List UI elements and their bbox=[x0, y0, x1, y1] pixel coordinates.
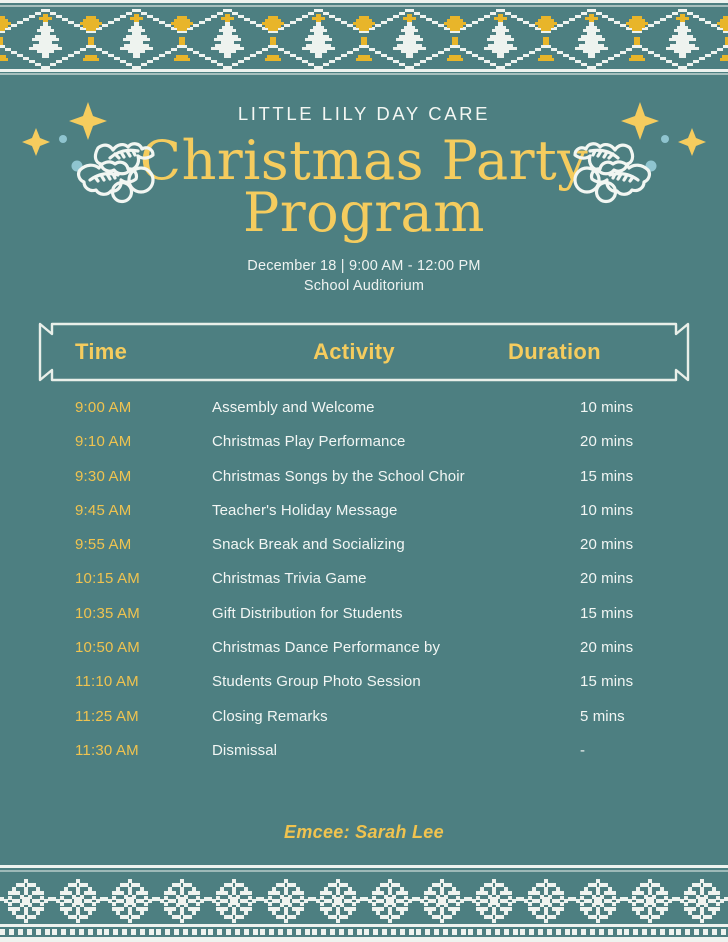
row-activity: Christmas Dance Performance by bbox=[212, 639, 580, 656]
sparkle-icon bbox=[22, 102, 107, 156]
table-row: 10:15 AM Christmas Trivia Game 20 mins bbox=[0, 570, 728, 604]
table-row: 11:10 AM Students Group Photo Session 15… bbox=[0, 673, 728, 707]
row-time: 9:45 AM bbox=[75, 502, 212, 519]
dot-icon bbox=[59, 135, 83, 172]
right-ornament bbox=[544, 96, 714, 216]
table-row: 11:25 AM Closing Remarks 5 mins bbox=[0, 708, 728, 742]
row-duration: 20 mins bbox=[580, 433, 728, 450]
row-activity: Closing Remarks bbox=[212, 708, 580, 725]
row-time: 10:15 AM bbox=[75, 570, 212, 587]
row-activity: Snack Break and Socializing bbox=[212, 536, 580, 553]
emcee-note: Emcee: Sarah Lee bbox=[0, 822, 728, 843]
schedule-table: Time Activity Duration 9:00 AM Assembly … bbox=[0, 322, 728, 776]
table-row: 9:45 AM Teacher's Holiday Message 10 min… bbox=[0, 502, 728, 536]
event-details: December 18 | 9:00 AM - 12:00 PM School … bbox=[0, 256, 728, 296]
column-header-duration: Duration bbox=[500, 339, 690, 365]
table-row: 9:10 AM Christmas Play Performance 20 mi… bbox=[0, 433, 728, 467]
table-row: 10:50 AM Christmas Dance Performance by … bbox=[0, 639, 728, 673]
row-activity: Christmas Songs by the School Choir bbox=[212, 468, 580, 485]
event-venue: School Auditorium bbox=[0, 276, 728, 296]
row-duration: 5 mins bbox=[580, 708, 728, 725]
row-time: 11:30 AM bbox=[75, 742, 212, 759]
table-header-banner: Time Activity Duration bbox=[38, 322, 690, 382]
column-header-activity: Activity bbox=[208, 339, 500, 365]
row-activity: Gift Distribution for Students bbox=[212, 605, 580, 622]
row-time: 9:55 AM bbox=[75, 536, 212, 553]
row-duration: - bbox=[580, 742, 728, 759]
row-time: 10:35 AM bbox=[75, 605, 212, 622]
row-time: 9:00 AM bbox=[75, 399, 212, 416]
row-duration: 15 mins bbox=[580, 468, 728, 485]
bottom-knit-border bbox=[0, 865, 728, 942]
row-activity: Students Group Photo Session bbox=[212, 673, 580, 690]
row-time: 11:25 AM bbox=[75, 708, 212, 725]
row-duration: 20 mins bbox=[580, 639, 728, 656]
table-row: 11:30 AM Dismissal - bbox=[0, 742, 728, 776]
event-date-time: December 18 | 9:00 AM - 12:00 PM bbox=[0, 256, 728, 276]
row-time: 10:50 AM bbox=[75, 639, 212, 656]
row-duration: 10 mins bbox=[580, 502, 728, 519]
row-time: 11:10 AM bbox=[75, 673, 212, 690]
top-knit-border bbox=[0, 0, 728, 78]
sparkle-icon bbox=[621, 102, 706, 156]
table-row: 9:00 AM Assembly and Welcome 10 mins bbox=[0, 399, 728, 433]
dot-icon bbox=[646, 135, 670, 172]
row-duration: 10 mins bbox=[580, 399, 728, 416]
row-time: 9:30 AM bbox=[75, 468, 212, 485]
left-ornament bbox=[14, 96, 184, 216]
row-duration: 15 mins bbox=[580, 605, 728, 622]
row-duration: 20 mins bbox=[580, 536, 728, 553]
row-duration: 20 mins bbox=[580, 570, 728, 587]
row-activity: Dismissal bbox=[212, 742, 580, 759]
column-header-time: Time bbox=[38, 339, 208, 365]
schedule-rows: 9:00 AM Assembly and Welcome 10 mins 9:1… bbox=[0, 399, 728, 776]
holly-icon bbox=[79, 144, 153, 202]
row-activity: Christmas Play Performance bbox=[212, 433, 580, 450]
table-row: 9:30 AM Christmas Songs by the School Ch… bbox=[0, 468, 728, 502]
holly-icon bbox=[575, 144, 649, 202]
row-activity: Assembly and Welcome bbox=[212, 399, 580, 416]
row-activity: Teacher's Holiday Message bbox=[212, 502, 580, 519]
table-row: 10:35 AM Gift Distribution for Students … bbox=[0, 605, 728, 639]
table-row: 9:55 AM Snack Break and Socializing 20 m… bbox=[0, 536, 728, 570]
row-duration: 15 mins bbox=[580, 673, 728, 690]
row-activity: Christmas Trivia Game bbox=[212, 570, 580, 587]
row-time: 9:10 AM bbox=[75, 433, 212, 450]
